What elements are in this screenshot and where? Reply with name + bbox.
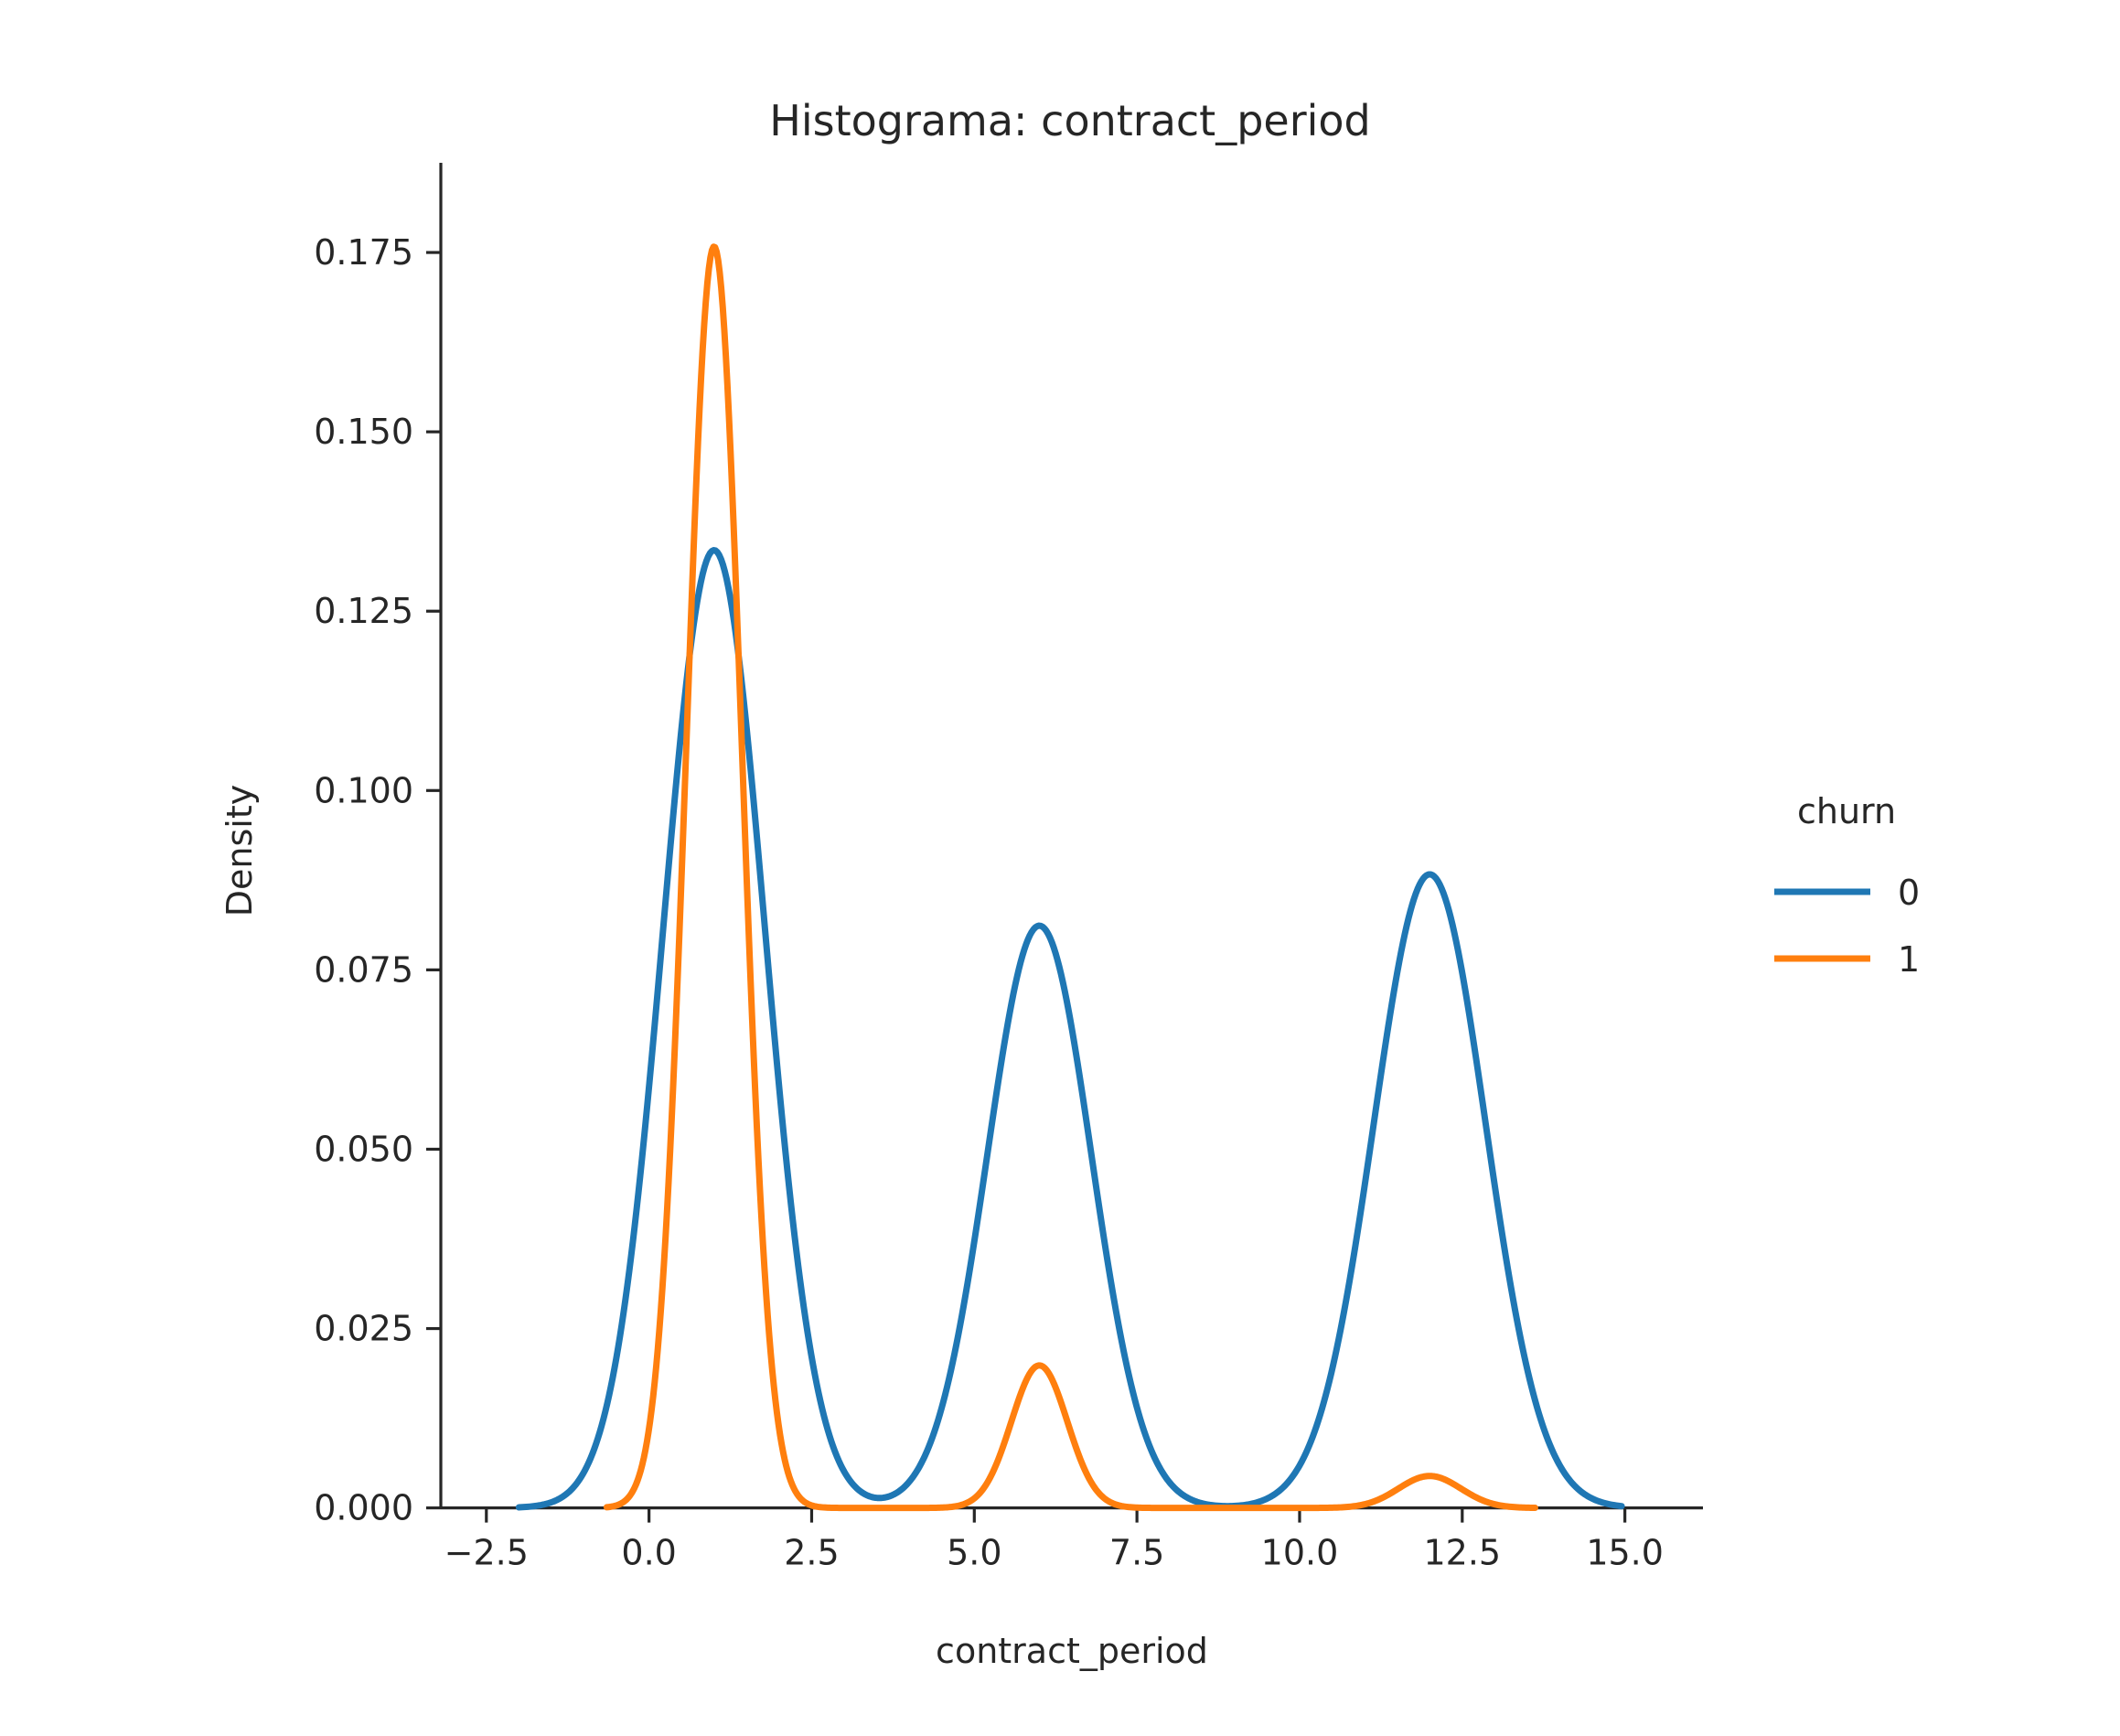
kde-curve-churn-0 (519, 551, 1622, 1507)
x-tick-label: 10.0 (1261, 1533, 1339, 1573)
x-axis-ticks: −2.50.02.55.07.510.012.515.0 (444, 1508, 1664, 1573)
x-tick-label: 0.0 (621, 1533, 676, 1573)
y-tick-label: 0.150 (314, 412, 413, 452)
x-tick-label: 5.0 (947, 1533, 1001, 1573)
legend-entries: 01 (1774, 873, 1920, 980)
kde-chart: Histograma: contract_period −2.50.02.55.… (0, 0, 2120, 1736)
y-tick-label: 0.000 (314, 1488, 413, 1528)
page-title: Histograma: contract_period (769, 96, 1371, 145)
x-tick-label: 2.5 (784, 1533, 839, 1573)
y-tick-label: 0.125 (314, 591, 413, 631)
y-tick-label: 0.175 (314, 232, 413, 273)
x-axis-label: contract_period (936, 1631, 1208, 1671)
legend-label-1: 1 (1898, 939, 1920, 980)
y-tick-label: 0.100 (314, 770, 413, 810)
x-tick-label: 15.0 (1586, 1533, 1664, 1573)
x-tick-label: −2.5 (444, 1533, 529, 1573)
x-tick-label: 7.5 (1109, 1533, 1164, 1573)
legend-title: churn (1797, 791, 1896, 831)
y-tick-label: 0.025 (314, 1309, 413, 1349)
kde-curves (519, 247, 1622, 1508)
y-tick-label: 0.075 (314, 949, 413, 990)
y-axis-ticks: 0.0000.0250.0500.0750.1000.1250.1500.175 (314, 232, 441, 1528)
kde-curve-churn-1 (606, 247, 1535, 1508)
legend: churn 01 (1774, 791, 1920, 980)
y-axis-label: Density (219, 785, 260, 916)
x-tick-label: 12.5 (1423, 1533, 1501, 1573)
y-tick-label: 0.050 (314, 1129, 413, 1169)
chart-page: Histograma: contract_period −2.50.02.55.… (0, 0, 2120, 1736)
legend-label-0: 0 (1898, 873, 1920, 913)
